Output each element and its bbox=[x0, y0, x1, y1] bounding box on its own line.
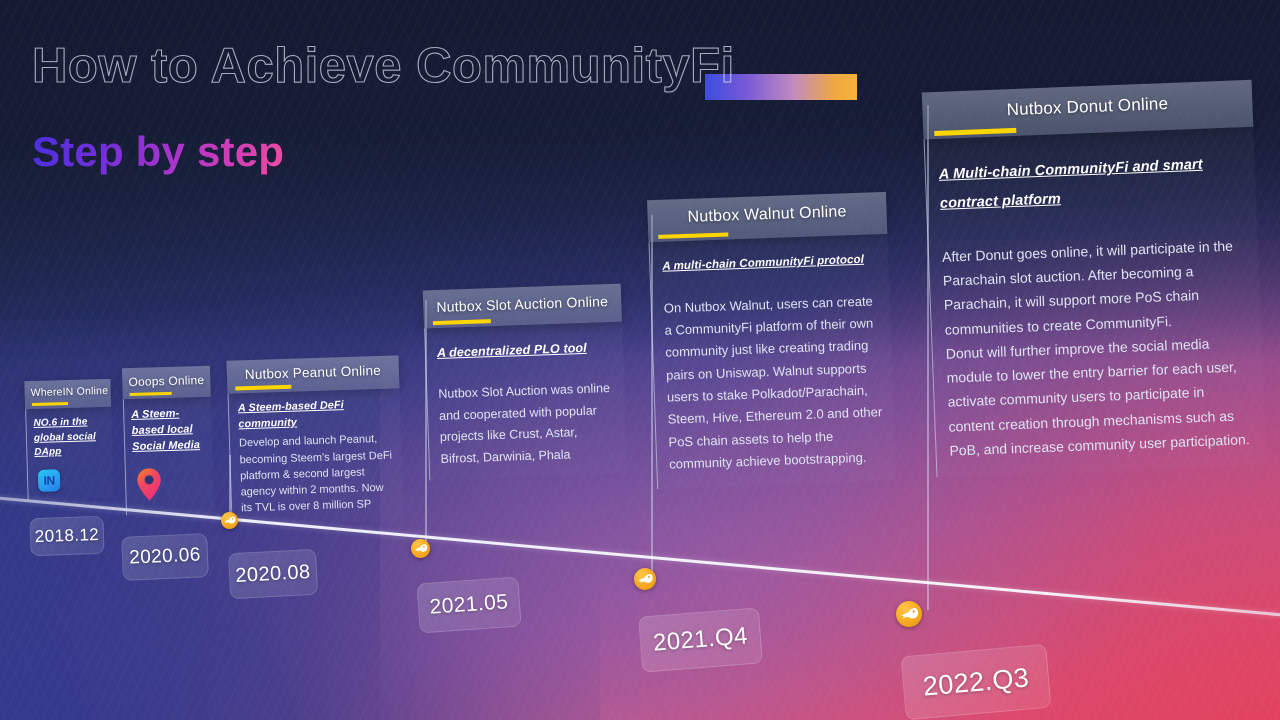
card-body: NO.6 in the global social DApp IN bbox=[25, 407, 113, 500]
card-subtitle: A Steem-based DeFi community bbox=[238, 397, 393, 433]
milestone-card-slot-auction[interactable]: Nutbox Slot Auction Online A decentraliz… bbox=[423, 284, 628, 481]
card-description: Develop and launch Peanut, becoming Stee… bbox=[239, 431, 395, 517]
card-title: Nutbox Slot Auction Online bbox=[433, 293, 611, 315]
card-description: Nutbox Slot Auction was online and coope… bbox=[438, 378, 617, 470]
squirrel-marker-icon bbox=[896, 601, 922, 627]
milestone-card-walnut[interactable]: Nutbox Walnut Online A multi-chain Commu… bbox=[647, 192, 896, 489]
card-accent-rule bbox=[235, 385, 291, 391]
card-header: Ooops Online bbox=[122, 366, 211, 399]
milestone-card-donut[interactable]: Nutbox Donut Online A Multi-chain Commun… bbox=[922, 80, 1267, 477]
card-body: A Multi-chain CommunityFi and smart cont… bbox=[924, 127, 1267, 477]
slide-canvas: How to Achieve CommunityFi Step by step … bbox=[0, 0, 1280, 720]
card-accent-rule bbox=[130, 392, 172, 396]
card-title: Nutbox Peanut Online bbox=[235, 363, 391, 383]
card-accent-rule bbox=[934, 128, 1016, 136]
card-accent-rule bbox=[658, 232, 728, 238]
card-body: A Steem-based DeFi community Develop and… bbox=[227, 388, 403, 525]
card-subtitle: NO.6 in the global social DApp bbox=[33, 415, 106, 460]
card-title: Ooops Online bbox=[128, 373, 204, 389]
card-body: A Steem-based local Social Media bbox=[123, 397, 214, 515]
card-accent-rule bbox=[32, 402, 68, 406]
card-subtitle: A Multi-chain CommunityFi and smart cont… bbox=[938, 149, 1244, 219]
card-description: On Nutbox Walnut, users can create a Com… bbox=[663, 290, 885, 476]
card-body: A multi-chain CommunityFi protocol On Nu… bbox=[649, 234, 896, 489]
timeline-date-pill[interactable]: 2020.08 bbox=[228, 549, 318, 600]
in-icon: IN bbox=[38, 469, 61, 492]
milestone-card-ooops[interactable]: Ooops Online A Steem-based local Social … bbox=[122, 366, 214, 515]
timeline-date-pill[interactable]: 2020.06 bbox=[121, 533, 209, 581]
card-title: Nutbox Walnut Online bbox=[657, 202, 876, 228]
card-subtitle: A Steem-based local Social Media bbox=[131, 406, 206, 456]
timeline-date-pill[interactable]: 2018.12 bbox=[29, 516, 104, 557]
map-pin-icon bbox=[136, 467, 163, 502]
card-title: WhereIN Online bbox=[31, 385, 105, 399]
timeline-date-pill[interactable]: 2022.Q3 bbox=[900, 644, 1051, 720]
milestone-card-peanut[interactable]: Nutbox Peanut Online A Steem-based DeFi … bbox=[226, 355, 403, 525]
timeline-date-pill[interactable]: 2021.Q4 bbox=[638, 607, 763, 672]
card-subtitle: A decentralized PLO tool bbox=[437, 338, 614, 362]
card-accent-rule bbox=[433, 319, 491, 325]
squirrel-marker-icon bbox=[411, 539, 430, 558]
card-header: WhereIN Online bbox=[24, 379, 111, 409]
page-subtitle: Step by step bbox=[32, 128, 284, 176]
squirrel-marker-icon bbox=[634, 568, 656, 590]
card-body: A decentralized PLO tool Nutbox Slot Auc… bbox=[424, 322, 627, 481]
card-title: Nutbox Donut Online bbox=[934, 91, 1241, 123]
card-header: Nutbox Peanut Online bbox=[226, 355, 399, 393]
squirrel-marker-icon bbox=[221, 512, 238, 529]
card-subtitle: A multi-chain CommunityFi protocol bbox=[662, 251, 878, 275]
milestone-card-wherein[interactable]: WhereIN Online NO.6 in the global social… bbox=[24, 379, 113, 500]
timeline-date-pill[interactable]: 2021.05 bbox=[416, 577, 521, 634]
page-title: How to Achieve CommunityFi bbox=[32, 40, 735, 94]
card-description: After Donut goes online, it will partici… bbox=[942, 233, 1254, 462]
